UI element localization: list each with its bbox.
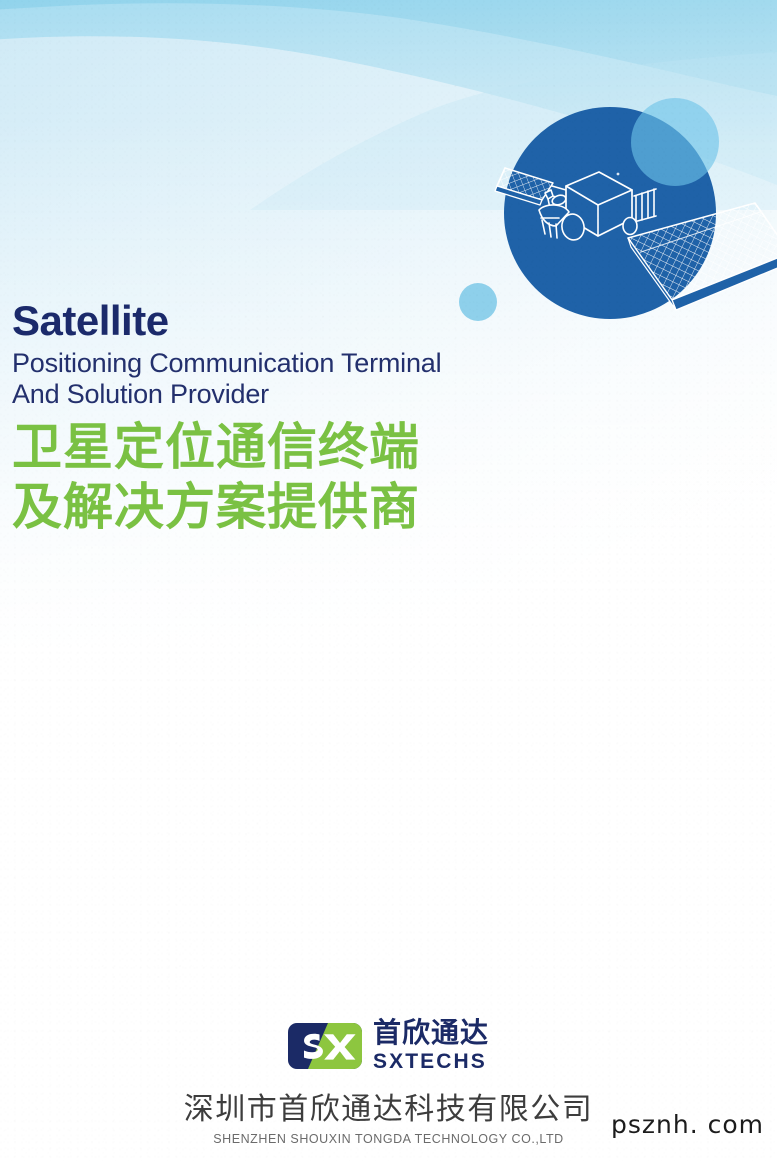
page-title: Satellite <box>12 300 572 342</box>
brand-name-english: SXTECHS <box>373 1050 487 1074</box>
sx-logo-icon <box>288 1023 362 1069</box>
brand-name-chinese: 首欣通达 <box>373 1019 489 1048</box>
page-title-chinese: 卫星定位通信终端 及解决方案提供商 <box>12 418 572 537</box>
brand-lockup: 首欣通达 SXTECHS <box>0 1019 777 1073</box>
paper-texture <box>0 0 777 1161</box>
page-subtitle: Positioning Communication Terminal And S… <box>12 348 572 409</box>
hero-text-block: Satellite Positioning Communication Term… <box>12 300 572 537</box>
site-watermark: psznh. com <box>611 1110 764 1139</box>
brochure-page: Satellite Positioning Communication Term… <box>0 0 777 1161</box>
brand-wordmark: 首欣通达 SXTECHS <box>373 1019 489 1073</box>
